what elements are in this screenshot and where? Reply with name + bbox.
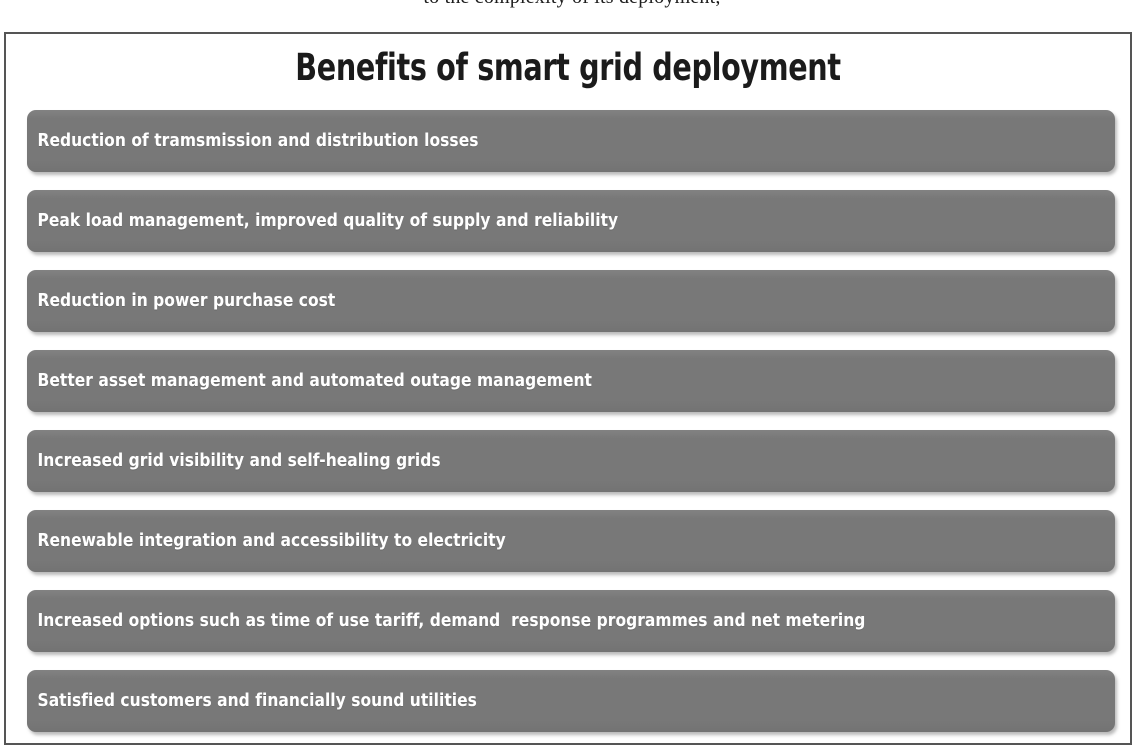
- benefit-label: Reduction of tramsmission and distributi…: [27, 131, 488, 151]
- cut-off-text-above-figure: to the complexity of its deployment,: [0, 0, 1144, 9]
- benefit-bar: Increased grid visibility and self-heali…: [27, 430, 1115, 492]
- figure-title: Benefits of smart grid deployment: [85, 46, 1052, 90]
- benefit-bar: Reduction of tramsmission and distributi…: [27, 110, 1115, 172]
- benefit-bar: Renewable integration and accessibility …: [27, 510, 1115, 572]
- benefit-label: Satisfied customers and financially soun…: [27, 691, 486, 711]
- benefit-bar: Reduction in power purchase cost: [27, 270, 1115, 332]
- benefit-label: Increased grid visibility and self-heali…: [27, 451, 450, 471]
- benefit-bar: Peak load management, improved quality o…: [27, 190, 1115, 252]
- benefit-label: Better asset management and automated ou…: [27, 371, 602, 391]
- benefit-list: Reduction of tramsmission and distributi…: [27, 110, 1115, 732]
- benefit-label: Peak load management, improved quality o…: [27, 211, 628, 231]
- benefit-label: Renewable integration and accessibility …: [27, 531, 515, 551]
- benefit-label: Increased options such as time of use ta…: [27, 611, 875, 631]
- benefit-label: Reduction in power purchase cost: [27, 291, 345, 311]
- benefit-bar: Satisfied customers and financially soun…: [27, 670, 1115, 732]
- benefit-bar: Increased options such as time of use ta…: [27, 590, 1115, 652]
- figure-frame: Benefits of smart grid deployment Reduct…: [4, 32, 1132, 745]
- benefit-bar: Better asset management and automated ou…: [27, 350, 1115, 412]
